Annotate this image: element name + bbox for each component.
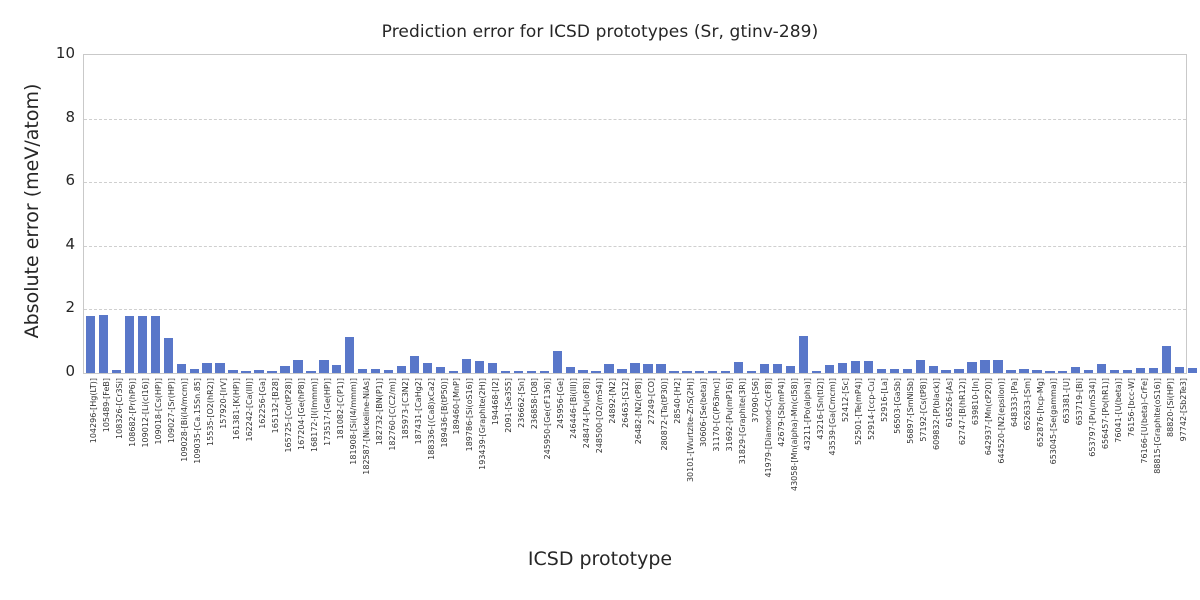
bar: [1175, 367, 1184, 373]
x-tick-label: 105489-[FeB]: [102, 378, 111, 432]
bar: [177, 364, 186, 373]
x-tick-label: 236858-[O8]: [530, 378, 539, 429]
bar: [1071, 367, 1080, 373]
bar: [708, 371, 717, 373]
x-tick-label: 109027-[Sr(HP)]: [167, 378, 176, 443]
bar: [890, 369, 899, 373]
bar: [436, 367, 445, 373]
x-tick-label: 194468-[I2]: [491, 378, 500, 425]
bar: [267, 371, 276, 373]
x-tick-label: 52914-[ccp-Cu]: [867, 378, 876, 440]
bar: [980, 360, 989, 373]
x-tick-label: 108326-[Cr3Si]: [115, 378, 124, 439]
x-tick-label: 109028-[Bi(I4/mcm)]: [180, 378, 189, 462]
bar: [190, 369, 199, 373]
bar: [1149, 368, 1158, 373]
x-tick-label: 653381-[U]: [1062, 378, 1071, 424]
bar: [760, 364, 769, 373]
x-tick-label: 193439-[Graphite(2H)]: [478, 378, 487, 470]
y-axis-label: Absolute error (meV/atom): [21, 61, 43, 361]
x-tick-label: 97742-[Sb2Te3]: [1179, 378, 1188, 441]
x-tick-label: 162256-[Ga]: [258, 378, 267, 429]
x-tick-label: 245956-[Ge]: [556, 378, 565, 429]
x-tick-label: 280872-[Ta(tP30)]: [660, 378, 669, 451]
chart-title: Prediction error for ICSD prototypes (Sr…: [0, 22, 1200, 42]
bar: [1045, 371, 1054, 373]
bar: [397, 366, 406, 373]
x-tick-label: 187431-[CaHg2]: [414, 378, 423, 444]
x-tick-label: 639810-[In]: [971, 378, 980, 425]
bar: [527, 371, 536, 373]
y-tick-label-0: 0: [33, 362, 75, 380]
x-tick-label: 52501-[Te(mP4)]: [854, 378, 863, 445]
bar: [916, 360, 925, 373]
x-tick-label: 246446-[Bi(III)]: [569, 378, 578, 439]
x-tick-label: 642937-[Mn(cP20)]: [984, 378, 993, 455]
bar: [215, 363, 224, 373]
x-tick-label: 644520-[N2(epsilon)]: [997, 378, 1006, 464]
x-tick-label: 62747-[B(hR12)]: [958, 378, 967, 445]
bar: [734, 362, 743, 373]
x-tick-label: 30606-[Se(beta)]: [699, 378, 708, 447]
bar: [164, 338, 173, 373]
bar: [228, 370, 237, 373]
x-tick-label: 109018-[Cs(HP)]: [154, 378, 163, 445]
x-tick-label: 185973-[C3N2]: [401, 378, 410, 439]
x-tick-label: 652633-[Sm]: [1023, 378, 1032, 431]
x-tick-label: 56503-[GaSb]: [893, 378, 902, 434]
x-tick-label: 43211-[Po(alpha)]: [803, 378, 812, 450]
bar: [773, 364, 782, 373]
x-tick-label: 104296-[Hg(LT)]: [89, 378, 98, 443]
bar: [1058, 371, 1067, 373]
x-tick-label: 52916-[La]: [880, 378, 889, 422]
bar: [345, 337, 354, 373]
x-tick-label: 167204-[Ge(hP8)]: [297, 378, 306, 450]
bar: [488, 363, 497, 373]
bar: [112, 370, 121, 373]
x-tick-label: 28540-[H2]: [673, 378, 682, 424]
bar: [125, 316, 134, 373]
bar: [371, 369, 380, 373]
bar: [1123, 370, 1132, 373]
y-tick-label-10: 10: [33, 44, 75, 62]
bar: [630, 363, 639, 373]
bar: [99, 315, 108, 373]
x-tick-label: 245950-[Ge(cF136)]: [543, 378, 552, 459]
x-tick-label: 2091-[Se3S5]: [504, 378, 513, 433]
x-tick-label: 31829-[Graphite(3R)]: [738, 378, 747, 464]
x-tick-label: 162242-[Ca(III)]: [245, 378, 254, 441]
bar: [1188, 368, 1197, 373]
x-tick-label: 43216-[Sn(tI2)]: [816, 378, 825, 440]
x-tick-label: 168172-[I(Immm)]: [310, 378, 319, 452]
x-tick-label: 165132-[B28]: [271, 378, 280, 433]
bar: [553, 351, 562, 373]
bar: [993, 360, 1002, 373]
x-tick-label: 109012-[Li(cI16)]: [141, 378, 150, 448]
x-tick-label: 248500-[O2(mS4)]: [595, 378, 604, 453]
bar: [825, 365, 834, 373]
x-tick-label: 76166-[U(beta)-CrFe]: [1140, 378, 1149, 464]
x-tick-label: 656457-[Po(hR1)]: [1101, 378, 1110, 449]
x-tick-label: 56897-[SmNiSb]: [906, 378, 915, 444]
x-tick-label: 648333-[Pa]: [1010, 378, 1019, 427]
bar: [786, 366, 795, 373]
x-tick-label: 161381-[K(HP)]: [232, 378, 241, 440]
bar: [1006, 370, 1015, 373]
bar: [941, 370, 950, 373]
bar-series: [84, 55, 1186, 373]
bar: [475, 361, 484, 373]
x-tick-label: 42679-[Sb(mP4)]: [777, 378, 786, 447]
bar: [721, 371, 730, 373]
x-tick-label: 88815-[Graphite(oS16)]: [1153, 378, 1162, 474]
x-tick-label: 37090-[S6]: [751, 378, 760, 423]
bar: [319, 360, 328, 373]
bar: [1097, 364, 1106, 373]
bar: [903, 369, 912, 373]
bar: [410, 356, 419, 373]
x-tick-label: 43058-[Mn(alpha)-Mn(cI58)]: [790, 378, 799, 491]
x-tick-label: 26482-[N2(cP8)]: [634, 378, 643, 444]
bar: [1162, 346, 1171, 373]
bar: [332, 365, 341, 373]
bar: [254, 370, 263, 373]
x-tick-label: 157920-[IrV]: [219, 378, 228, 429]
bar: [86, 316, 95, 373]
bar: [514, 371, 523, 373]
chart-root: Prediction error for ICSD prototypes (Sr…: [0, 0, 1200, 600]
x-tick-label: 653797-[Pu(mS34)]: [1088, 378, 1097, 457]
bar: [1032, 370, 1041, 373]
bar: [643, 364, 652, 373]
x-tick-label: 181908-[Si(I4/mmm)]: [349, 378, 358, 465]
x-tick-label: 88820-[Si(HP)]: [1166, 378, 1175, 437]
x-tick-label: 24892-[N2]: [608, 378, 617, 424]
x-tick-label: 182760-[C(C2/m)]: [388, 378, 397, 451]
bar: [1084, 370, 1093, 373]
bar: [1019, 369, 1028, 373]
bar: [864, 361, 873, 373]
x-tick-label: 30101-[Wurtzite-ZnS(2H)]: [686, 378, 695, 482]
bar: [306, 371, 315, 373]
bar: [967, 362, 976, 373]
x-tick-label: 652876-[hcp-Mg]: [1036, 378, 1045, 447]
bar: [812, 371, 821, 373]
x-tick-label: 15535-[O2(hR2)]: [206, 378, 215, 446]
x-tick-label: 31170-[C(P63mc)]: [712, 378, 721, 452]
bar: [877, 369, 886, 373]
x-tick-label: 26463-[S12]: [621, 378, 630, 428]
bar: [358, 369, 367, 373]
bar: [578, 370, 587, 373]
bar: [540, 371, 549, 373]
bar: [604, 364, 613, 373]
bar: [384, 370, 393, 373]
bar: [695, 371, 704, 373]
bar: [954, 369, 963, 373]
bar: [838, 363, 847, 373]
bar: [202, 363, 211, 373]
x-tick-label: 609832-[P(black)]: [932, 378, 941, 450]
bar: [929, 366, 938, 373]
bar: [462, 359, 471, 373]
x-tick-label: 653045-[Se(gamma)]: [1049, 378, 1058, 464]
x-tick-label: 189786-[Si(oS16)]: [465, 378, 474, 451]
bar: [293, 360, 302, 373]
x-tick-label: 57192-[Cs(tP8)]: [919, 378, 928, 442]
x-tick-label: 189436-[B(tP50)]: [440, 378, 449, 448]
bar: [617, 369, 626, 373]
x-tick-label: 182587-[Nickeline-NiAs]: [362, 378, 371, 475]
bar: [501, 371, 510, 373]
bar: [799, 336, 808, 373]
bar: [241, 371, 250, 373]
x-tick-label: 52412-[Sc]: [841, 378, 850, 422]
x-tick-label: 189460-[MnP]: [452, 378, 461, 434]
x-tick-label: 109035-[Ca.15Sn.85]: [193, 378, 202, 464]
x-tick-label: 31692-[Pu(mP16)]: [725, 378, 734, 451]
bar: [747, 371, 756, 373]
x-tick-label: 165725-[Co(tP28)]: [284, 378, 293, 453]
bar: [1110, 370, 1119, 373]
x-tick-label: 616526-[As]: [945, 378, 954, 427]
bar: [423, 363, 432, 373]
bar: [669, 371, 678, 373]
bar: [682, 371, 691, 373]
bar: [591, 371, 600, 373]
x-tick-label: 188336-[(Ca8)xCa2]: [427, 378, 436, 460]
x-tick-label: 182732-[BN(P1)]: [375, 378, 384, 445]
bar: [656, 364, 665, 373]
bar: [280, 366, 289, 373]
x-tick-label: 76156-[bcc-W]: [1127, 378, 1136, 437]
x-tick-label: 27249-[CO]: [647, 378, 656, 424]
x-tick-label: 173517-[Ge(HP)]: [323, 378, 332, 446]
x-tick-label: 653719-[Bi]: [1075, 378, 1084, 425]
bar: [851, 361, 860, 373]
bar: [566, 367, 575, 373]
bar: [151, 316, 160, 373]
x-tick-label: 76041-[U(beta)]: [1114, 378, 1123, 443]
x-tick-label: 41979-[Diamond-C(cF8)]: [764, 378, 773, 478]
x-tick-label: 43539-[Ga(Cmcm)]: [828, 378, 837, 456]
bar: [138, 316, 147, 373]
x-axis-label: ICSD prototype: [0, 548, 1200, 570]
x-tick-label: 108682-[Pr(hP6)]: [128, 378, 137, 447]
plot-area: [83, 54, 1187, 374]
x-tick-label: 181082-[C(P1)]: [336, 378, 345, 439]
x-tick-label: 236662-[Sn]: [517, 378, 526, 428]
bar: [449, 371, 458, 373]
x-tick-label: 248474-[Pu(oF8)]: [582, 378, 591, 448]
bar: [1136, 368, 1145, 373]
